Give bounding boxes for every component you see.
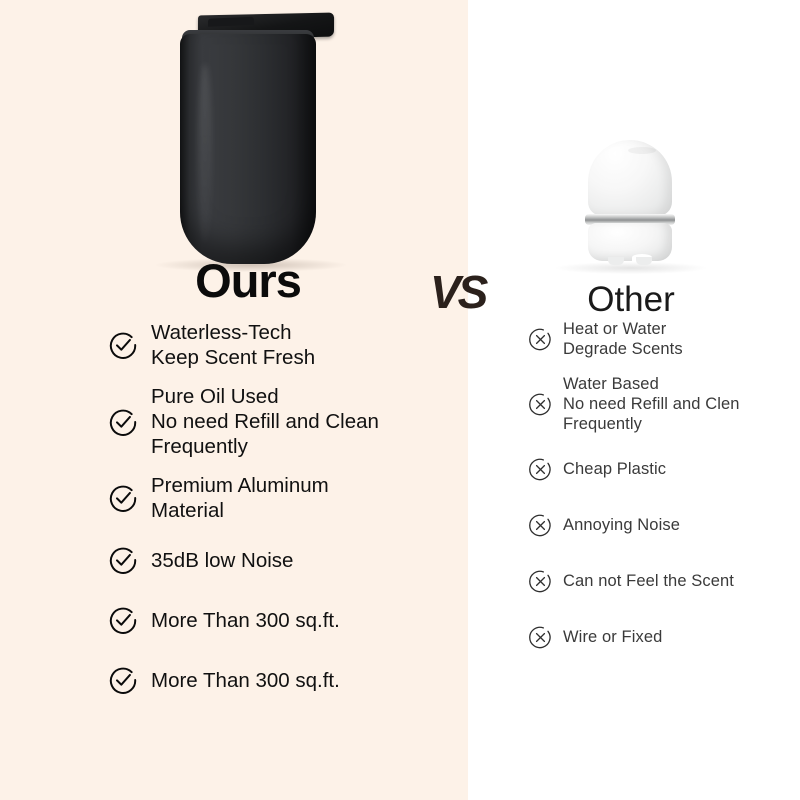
x-circle-icon [528, 513, 553, 538]
check-circle-icon [108, 605, 138, 635]
feature-row: Pure Oil Used No need Refill and Clean F… [108, 384, 453, 459]
x-circle-icon [528, 569, 553, 594]
feature-row: More Than 300 sq.ft. [108, 597, 453, 643]
feature-text: Wire or Fixed [563, 627, 662, 647]
tumbler-highlight [198, 64, 212, 244]
tumbler-body [180, 34, 316, 264]
feature-text: Heat or Water Degrade Scents [563, 319, 683, 359]
feature-text: Water Based No need Refill and Clen Freq… [563, 374, 740, 434]
diffuser-top-vent [628, 147, 656, 154]
vs-badge: VS [430, 267, 485, 317]
feature-row: Waterless-Tech Keep Scent Fresh [108, 320, 453, 370]
feature-text: Waterless-Tech Keep Scent Fresh [151, 320, 315, 370]
heading-ours: Ours [148, 256, 348, 306]
feature-text: More Than 300 sq.ft. [151, 608, 340, 633]
feature-text: More Than 300 sq.ft. [151, 668, 340, 693]
product-image-other [576, 140, 684, 268]
feature-text: Cheap Plastic [563, 459, 666, 479]
check-circle-icon [108, 407, 138, 437]
feature-row: Water Based No need Refill and Clen Freq… [528, 374, 790, 434]
diffuser-foot-left [608, 257, 624, 265]
heading-other: Other [548, 280, 714, 320]
diffuser-foot-right [636, 257, 652, 265]
feature-row: More Than 300 sq.ft. [108, 657, 453, 703]
feature-row: Annoying Noise [528, 504, 790, 546]
feature-row: Premium Aluminum Material [108, 473, 453, 523]
check-circle-icon [108, 665, 138, 695]
feature-row: Can not Feel the Scent [528, 560, 790, 602]
feature-row: 35dB low Noise [108, 537, 453, 583]
feature-text: 35dB low Noise [151, 548, 293, 573]
feature-row: Heat or Water Degrade Scents [528, 318, 790, 360]
feature-list-other: Heat or Water Degrade ScentsWater Based … [528, 318, 790, 672]
feature-text: Annoying Noise [563, 515, 680, 535]
x-circle-icon [528, 392, 553, 417]
diffuser-base [588, 223, 672, 261]
check-circle-icon [108, 330, 138, 360]
x-circle-icon [528, 457, 553, 482]
x-circle-icon [528, 327, 553, 352]
tumbler-lid-tab [208, 17, 254, 27]
feature-row: Wire or Fixed [528, 616, 790, 658]
diffuser-dome [588, 140, 672, 216]
check-circle-icon [108, 483, 138, 513]
feature-text: Premium Aluminum Material [151, 473, 329, 523]
product-image-ours [176, 14, 324, 266]
check-circle-icon [108, 545, 138, 575]
comparison-infographic: Ours VS Other Waterless-Tech Keep Scent … [0, 0, 800, 800]
feature-text: Can not Feel the Scent [563, 571, 734, 591]
feature-list-ours: Waterless-Tech Keep Scent FreshPure Oil … [108, 320, 453, 717]
feature-row: Cheap Plastic [528, 448, 790, 490]
feature-text: Pure Oil Used No need Refill and Clean F… [151, 384, 379, 459]
x-circle-icon [528, 625, 553, 650]
